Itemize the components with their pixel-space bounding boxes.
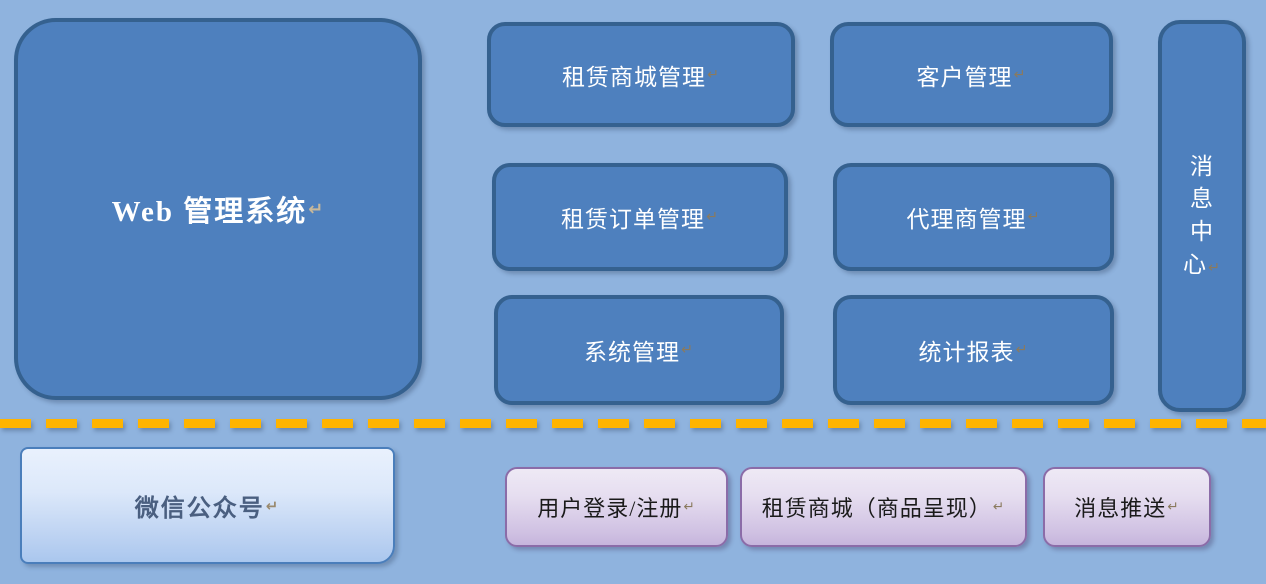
module-label: 系统管理	[584, 333, 680, 367]
feature-box-message-push[interactable]: 消息推送↵	[1043, 467, 1211, 547]
web-management-system-box[interactable]: Web 管理系统↵	[14, 18, 422, 400]
module-box-order-management[interactable]: 租赁订单管理↵	[492, 163, 788, 271]
message-center-char: 中	[1190, 216, 1214, 249]
paragraph-mark-icon: ↵	[1208, 260, 1221, 276]
module-box-mall-management[interactable]: 租赁商城管理↵	[487, 22, 795, 127]
module-label: 客户管理	[917, 58, 1013, 92]
paragraph-mark-icon: ↵	[1014, 67, 1027, 83]
module-label: 代理商管理	[907, 200, 1027, 234]
paragraph-mark-icon: ↵	[993, 499, 1005, 515]
module-label: 租赁订单管理	[561, 200, 705, 234]
wechat-public-account-label: 微信公众号	[135, 488, 265, 523]
feature-label: 用户登录/注册	[537, 491, 682, 523]
paragraph-mark-icon: ↵	[308, 199, 324, 220]
paragraph-mark-icon: ↵	[706, 209, 719, 225]
dashed-line	[0, 419, 1266, 428]
module-label: 统计报表	[919, 333, 1015, 367]
message-center-char: 息	[1190, 183, 1214, 216]
module-label: 租赁商城管理	[562, 58, 706, 92]
paragraph-mark-icon: ↵	[266, 497, 280, 515]
message-center-char: 消	[1190, 151, 1214, 184]
paragraph-mark-icon: ↵	[683, 499, 695, 515]
paragraph-mark-icon: ↵	[1016, 342, 1029, 358]
module-box-message-center[interactable]: 消 息 中 心↵	[1158, 20, 1246, 412]
wechat-public-account-box[interactable]: 微信公众号↵	[20, 447, 395, 564]
architecture-diagram-canvas: Web 管理系统↵ 租赁商城管理↵ 客户管理↵ 租赁订单管理↵ 代理商管理↵ 系…	[0, 0, 1266, 584]
paragraph-mark-icon: ↵	[707, 67, 720, 83]
web-management-system-label: Web 管理系统	[112, 188, 308, 230]
paragraph-mark-icon: ↵	[681, 342, 694, 358]
feature-label: 消息推送	[1074, 491, 1166, 523]
feature-label: 租赁商城（商品呈现）	[762, 491, 992, 523]
module-box-customer-management[interactable]: 客户管理↵	[830, 22, 1113, 127]
feature-box-rental-mall-display[interactable]: 租赁商城（商品呈现）↵	[740, 467, 1027, 547]
layer-divider	[0, 419, 1266, 428]
module-box-statistics-report[interactable]: 统计报表↵	[833, 295, 1114, 405]
module-box-system-management[interactable]: 系统管理↵	[494, 295, 784, 405]
module-box-agent-management[interactable]: 代理商管理↵	[833, 163, 1114, 271]
paragraph-mark-icon: ↵	[1028, 209, 1041, 225]
paragraph-mark-icon: ↵	[1167, 499, 1179, 515]
message-center-char-text: 心	[1183, 252, 1207, 277]
feature-box-user-login-register[interactable]: 用户登录/注册↵	[505, 467, 728, 547]
message-center-char: 心↵	[1183, 249, 1221, 282]
